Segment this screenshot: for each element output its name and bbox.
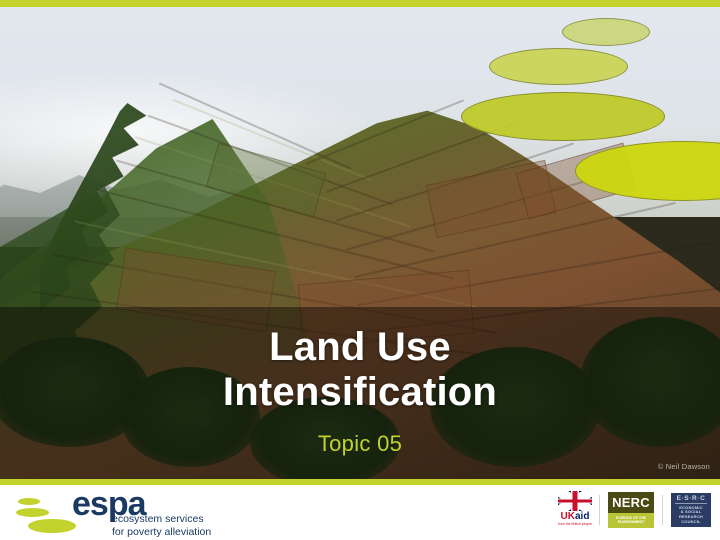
ukaid-word-aid: aid bbox=[575, 511, 589, 522]
page-title: Land Use Intensification bbox=[0, 325, 720, 415]
esrc-full-name: ECONOMIC & SOCIAL RESEARCH COUNCIL bbox=[679, 506, 703, 526]
decor-ellipse-2 bbox=[489, 48, 628, 85]
espa-ellipse-mark bbox=[16, 497, 78, 535]
espa-dot-large bbox=[28, 519, 76, 533]
photo-credit: © Neil Dawson bbox=[658, 462, 710, 471]
esrc-logo: E·S·R·C ECONOMIC & SOCIAL RESEARCH COUNC… bbox=[670, 492, 712, 528]
nerc-strapline: SCIENCE OF THE ENVIRONMENT bbox=[608, 513, 654, 528]
funder-divider bbox=[662, 495, 663, 525]
footer: espa ecosystem services for poverty alle… bbox=[0, 485, 720, 540]
espa-dot-small bbox=[18, 498, 40, 505]
page-subtitle: Topic 05 bbox=[0, 431, 720, 457]
espa-tagline-line-2: for poverty alleviation bbox=[112, 526, 211, 539]
nerc-acronym: NERC bbox=[608, 492, 654, 513]
funder-logos: UKaid from the British people NERC SCIEN… bbox=[558, 491, 712, 529]
esrc-name-line-4: COUNCIL bbox=[679, 520, 703, 525]
top-accent-bar bbox=[0, 0, 720, 7]
decor-ellipse-1 bbox=[562, 18, 650, 46]
page-title-line-2: Intensification bbox=[223, 370, 497, 414]
title-block: Land Use Intensification Topic 05 bbox=[0, 325, 720, 457]
decor-ellipse-3 bbox=[461, 92, 665, 141]
ukaid-wordmark: UKaid bbox=[561, 512, 590, 523]
presentation-slide: © Neil Dawson Land Use Intensification T… bbox=[0, 0, 720, 540]
espa-logo: espa ecosystem services for poverty alle… bbox=[16, 489, 236, 537]
espa-tagline: ecosystem services for poverty alleviati… bbox=[112, 513, 211, 539]
funder-divider bbox=[599, 495, 600, 525]
ukaid-strapline: from the British people bbox=[558, 523, 592, 527]
espa-tagline-line-1: ecosystem services bbox=[112, 513, 211, 526]
ukaid-logo: UKaid from the British people bbox=[558, 491, 592, 529]
footer-divider bbox=[0, 479, 720, 485]
ukaid-word-uk: UK bbox=[561, 511, 575, 522]
page-title-line-1: Land Use bbox=[269, 325, 451, 369]
nerc-logo: NERC SCIENCE OF THE ENVIRONMENT bbox=[607, 491, 655, 529]
esrc-acronym: E·S·R·C bbox=[675, 495, 707, 504]
espa-dot-medium bbox=[16, 508, 49, 517]
union-jack-icon bbox=[558, 491, 592, 511]
